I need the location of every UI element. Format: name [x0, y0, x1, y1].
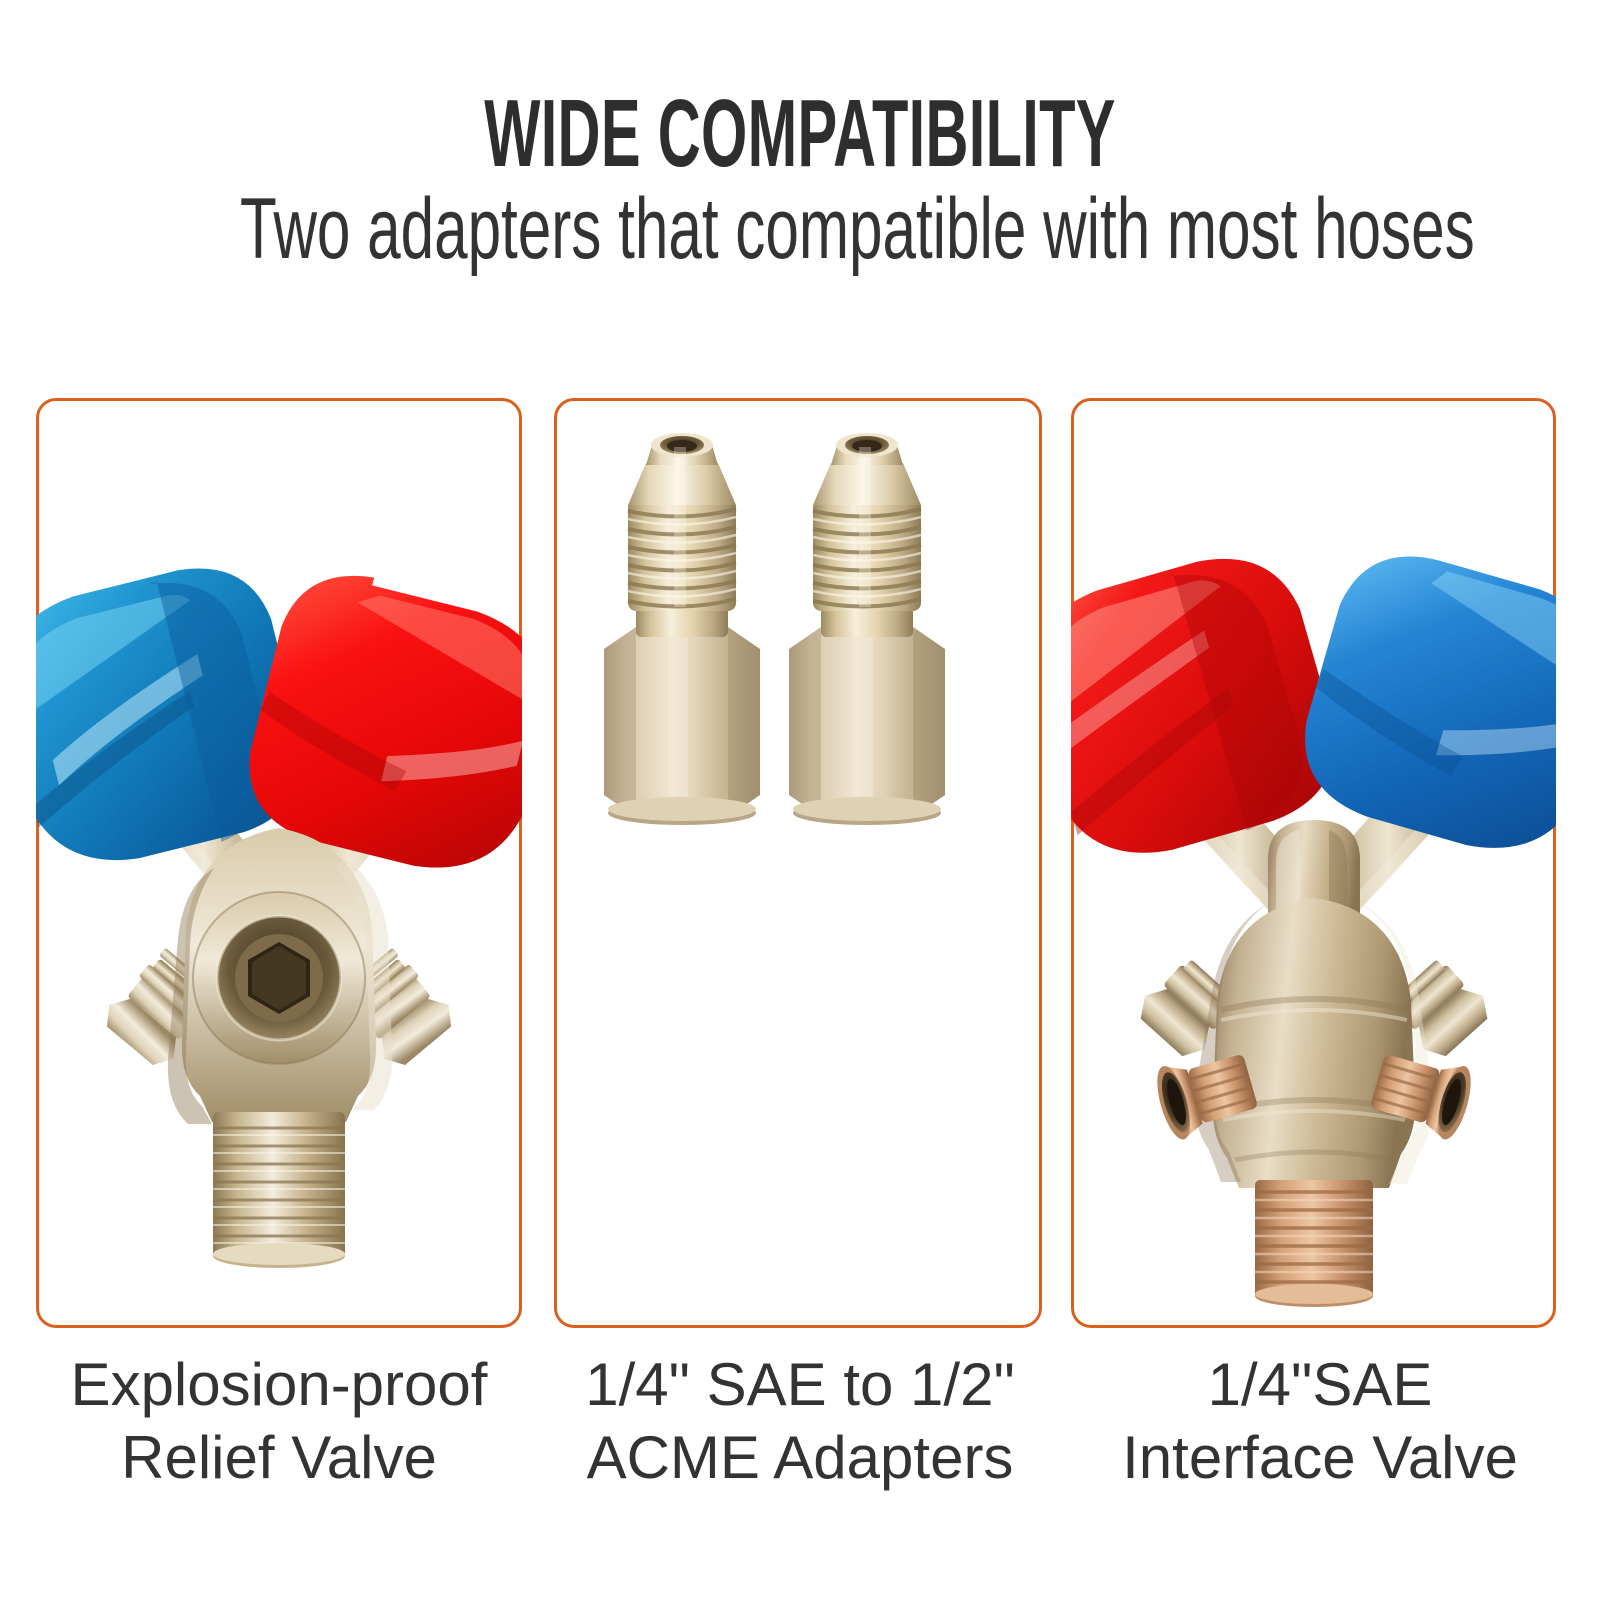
caption-sae-interface-valve: 1/4"SAE Interface Valve — [1050, 1348, 1590, 1494]
caption-explosion-proof-relief-valve: Explosion-proof Relief Valve — [10, 1348, 548, 1494]
product-panel-row — [0, 398, 1600, 1330]
caption-sae-to-acme-adapters: 1/4" SAE to 1/2" ACME Adapters — [540, 1348, 1060, 1494]
panel-sae-interface-valve[interactable] — [1071, 398, 1556, 1328]
product-image-sae-to-acme-adapters — [557, 401, 1039, 1325]
panel-explosion-proof-relief-valve[interactable] — [36, 398, 522, 1328]
page-title: WIDE COMPATIBILITY — [304, 86, 1296, 182]
product-image-sae-interface-valve — [1074, 401, 1553, 1325]
product-image-explosion-proof-relief-valve — [39, 401, 519, 1325]
page-subtitle: Two adapters that compatible with most h… — [240, 186, 1360, 272]
panel-sae-to-acme-adapters[interactable] — [554, 398, 1042, 1328]
